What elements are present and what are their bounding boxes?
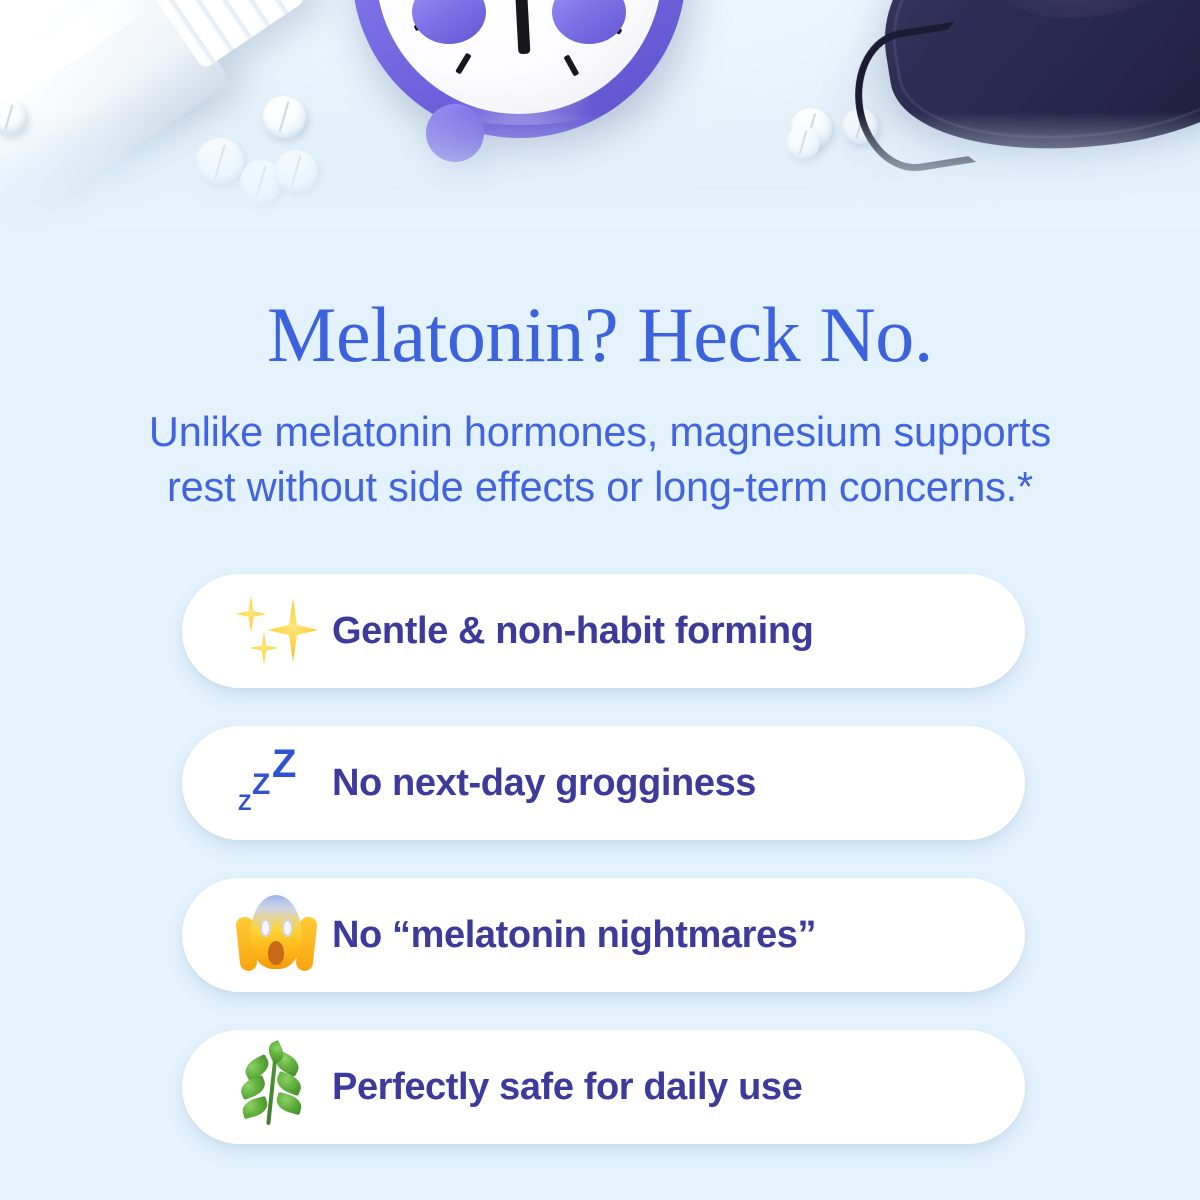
zzz-glyph-small: Z bbox=[238, 792, 251, 814]
alarm-clock-image: 3 6 bbox=[352, 0, 686, 138]
tablet bbox=[262, 96, 306, 138]
scream-eye-left bbox=[260, 919, 271, 937]
sleep-mask-strap bbox=[845, 22, 976, 179]
sparkle-medium bbox=[236, 596, 266, 632]
scream-eye-right bbox=[282, 919, 293, 937]
zzz-icon: Z Z Z bbox=[228, 744, 324, 822]
clock-foot bbox=[426, 104, 484, 162]
herb-leaf bbox=[274, 1092, 304, 1116]
page-subtitle-line-2: rest without side effects or long-term c… bbox=[70, 459, 1130, 514]
sparkle-large bbox=[268, 598, 318, 662]
clock-tick bbox=[563, 54, 579, 76]
page-subtitle: Unlike melatonin hormones, magnesium sup… bbox=[70, 404, 1130, 514]
herb-icon bbox=[228, 1047, 324, 1127]
feature-card-label: No “melatonin nightmares” bbox=[332, 914, 1025, 957]
zzz-glyph-medium: Z bbox=[252, 770, 270, 800]
feature-list: Gentle & non-habit forming Z Z Z No next… bbox=[182, 574, 1025, 1144]
feature-card-label: Gentle & non-habit forming bbox=[332, 610, 1025, 653]
marketing-infographic: 3 6 bbox=[0, 0, 1200, 1200]
scream-mouth bbox=[268, 941, 284, 965]
feature-card-label: Perfectly safe for daily use bbox=[332, 1066, 1025, 1109]
feature-card[interactable]: No “melatonin nightmares” bbox=[182, 878, 1025, 992]
sparkle-small bbox=[250, 632, 278, 664]
sleep-mask-image bbox=[864, 0, 1200, 177]
feature-card[interactable]: Z Z Z No next-day grogginess bbox=[182, 726, 1025, 840]
feature-card[interactable]: Perfectly safe for daily use bbox=[182, 1030, 1025, 1144]
feature-card-label: No next-day grogginess bbox=[332, 762, 1025, 805]
tablet bbox=[196, 138, 244, 184]
zzz-glyph-large: Z bbox=[272, 744, 296, 784]
clock-tick bbox=[455, 53, 471, 75]
tablet bbox=[786, 126, 820, 159]
hero-photo: 3 6 bbox=[0, 0, 1200, 232]
tablet bbox=[274, 150, 318, 192]
screaming-face-icon bbox=[228, 895, 324, 975]
clock-hour-hand bbox=[514, 0, 530, 54]
page-subtitle-line-1: Unlike melatonin hormones, magnesium sup… bbox=[149, 408, 1051, 455]
sparkles-icon bbox=[228, 594, 324, 668]
page-title: Melatonin? Heck No. bbox=[0, 296, 1200, 374]
feature-card[interactable]: Gentle & non-habit forming bbox=[182, 574, 1025, 688]
